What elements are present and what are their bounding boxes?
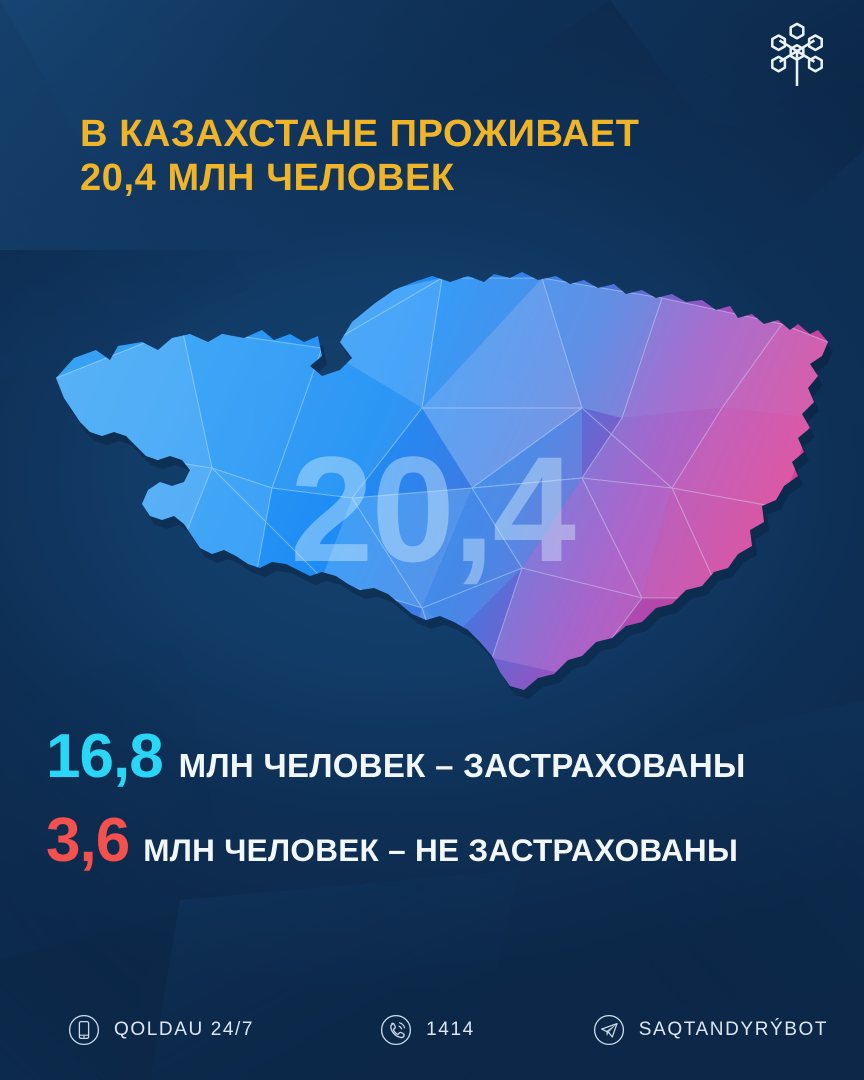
stat-row-uninsured: 3,6 МЛН ЧЕЛОВЕК – НЕ ЗАСТРАХОВАНЫ xyxy=(46,810,846,872)
page-title: В КАЗАХСТАНЕ ПРОЖИВАЕТ 20,4 МЛН ЧЕЛОВЕК xyxy=(80,112,800,200)
stat-value-insured: 16,8 xyxy=(46,726,163,788)
phone-call-icon xyxy=(380,1014,412,1046)
footer-item-qoldau[interactable]: QOLDAU 24/7 xyxy=(68,1014,254,1046)
kazakhstan-map-svg xyxy=(22,238,842,708)
infographic-poster: В КАЗАХСТАНЕ ПРОЖИВАЕТ 20,4 МЛН ЧЕЛОВЕК xyxy=(0,0,864,1080)
snowflake-logo-icon xyxy=(766,22,828,88)
stats-list: 16,8 МЛН ЧЕЛОВЕК – ЗАСТРАХОВАНЫ 3,6 МЛН … xyxy=(46,726,846,872)
footer-item-hotline[interactable]: 1414 xyxy=(380,1014,475,1046)
smartphone-icon xyxy=(68,1014,100,1046)
stat-row-insured: 16,8 МЛН ЧЕЛОВЕК – ЗАСТРАХОВАНЫ xyxy=(46,726,846,788)
telegram-plane-icon xyxy=(593,1014,625,1046)
contact-footer: QOLDAU 24/7 1414 SAQTANDYRÝBOT xyxy=(0,1014,864,1046)
footer-item-telegram-bot[interactable]: SAQTANDYRÝBOT xyxy=(593,1014,828,1046)
footer-label-telegram-bot: SAQTANDYRÝBOT xyxy=(639,1019,828,1041)
stat-label-insured: МЛН ЧЕЛОВЕК – ЗАСТРАХОВАНЫ xyxy=(179,747,746,785)
headline-line-1: В КАЗАХСТАНЕ ПРОЖИВАЕТ xyxy=(80,113,640,155)
footer-label-hotline: 1414 xyxy=(426,1019,475,1041)
headline-line-2: 20,4 МЛН ЧЕЛОВЕК xyxy=(80,156,800,200)
stat-value-uninsured: 3,6 xyxy=(46,810,129,872)
stat-label-uninsured: МЛН ЧЕЛОВЕК – НЕ ЗАСТРАХОВАНЫ xyxy=(143,832,738,869)
kazakhstan-map: 20,4 xyxy=(22,238,842,708)
footer-label-qoldau: QOLDAU 24/7 xyxy=(114,1019,254,1041)
